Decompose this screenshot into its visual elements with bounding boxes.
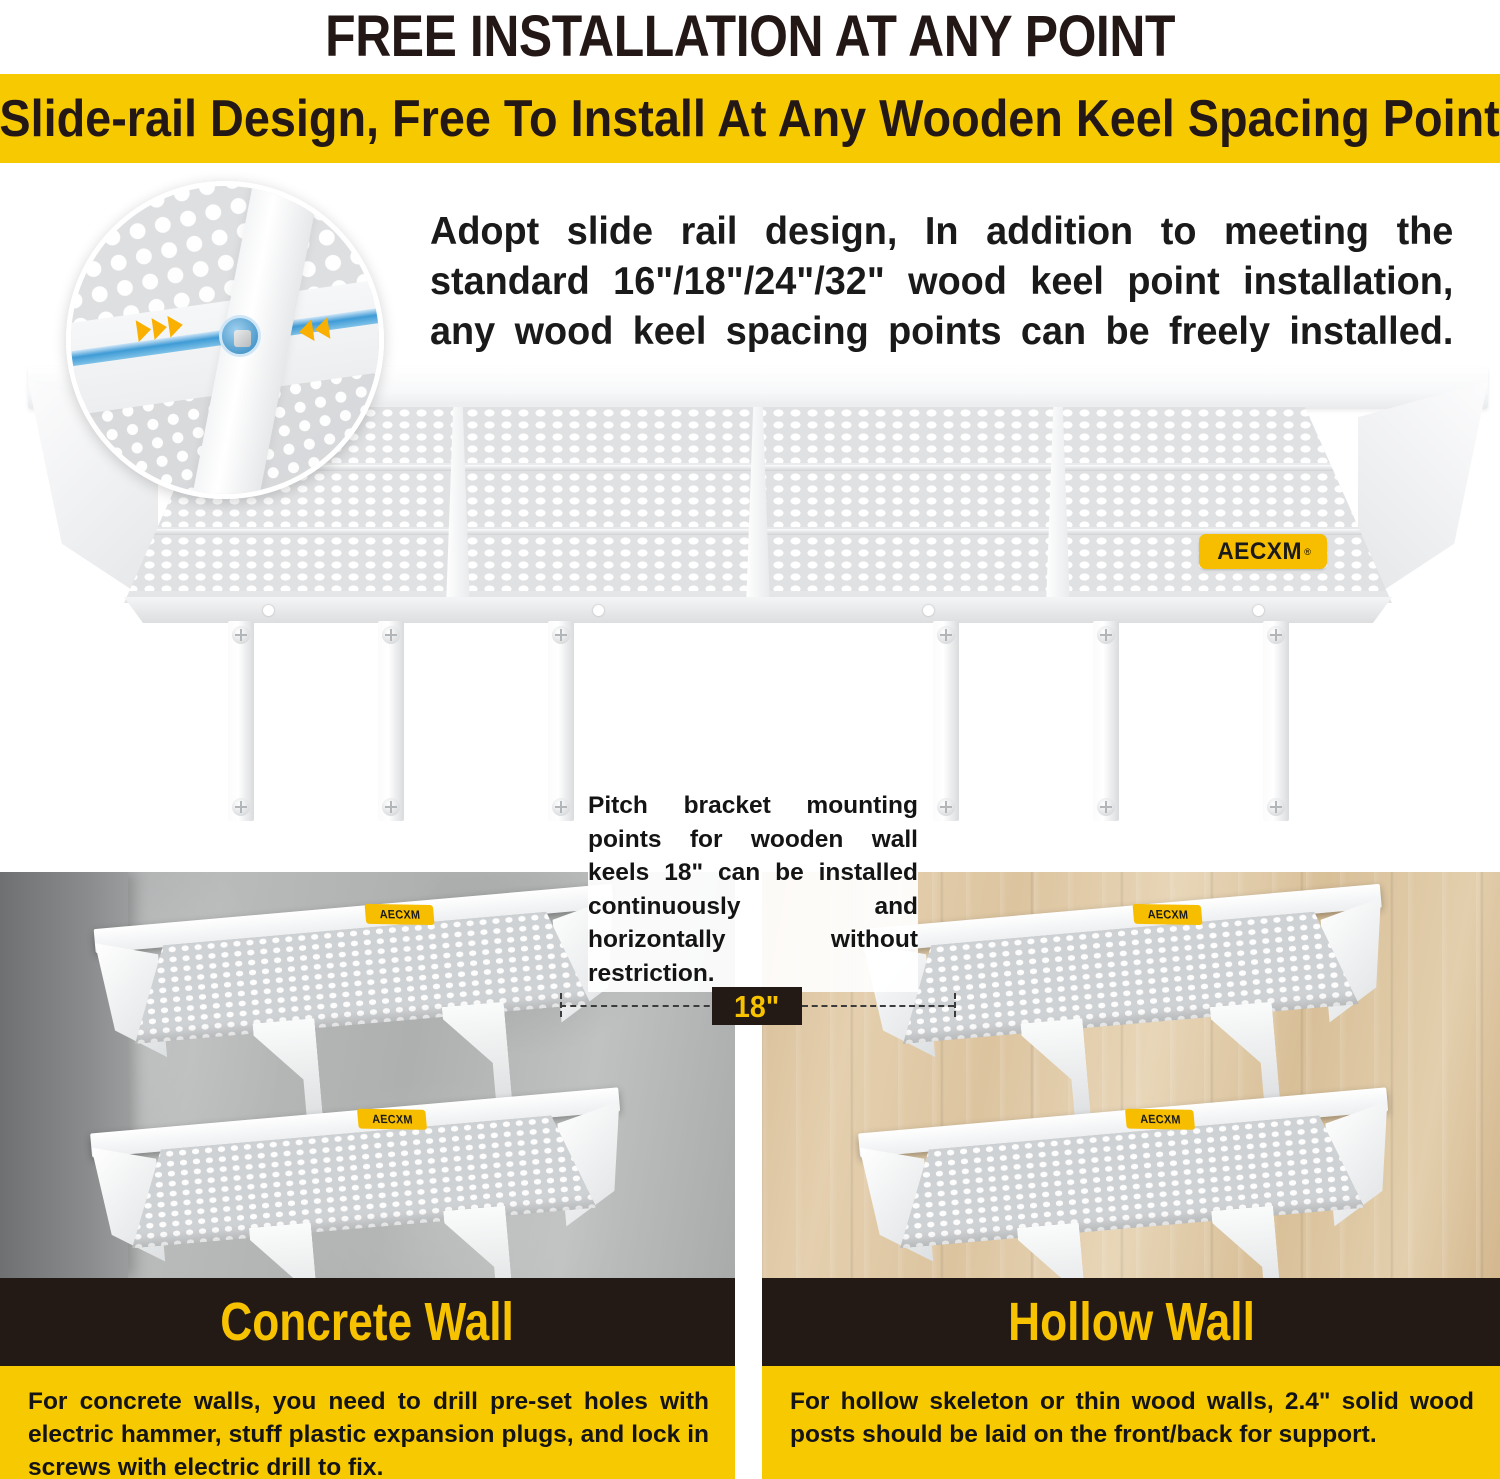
dimension-value: 18" [734,991,779,1022]
dimension-line-left [560,1005,720,1007]
panel-caption: Concrete Wall [221,1295,515,1349]
screw-icon [937,798,955,816]
screw-icon [232,798,250,816]
subtitle-text: Slide-rail Design, Free To Install At An… [0,93,1500,145]
mounting-bracket [548,621,574,821]
shelf-bracket [443,1206,518,1278]
subtitle-banner: Slide-rail Design, Free To Install At An… [0,74,1500,163]
slide-rail-magnifier-icon [66,181,384,499]
registered-mark: ® [1304,547,1311,557]
screw-icon [382,626,400,644]
panel-description-block: For concrete walls, you need to drill pr… [0,1366,735,1479]
screw-icon [1097,798,1115,816]
rail-bolt-icon [219,315,261,357]
panel-caption-band: Hollow Wall [762,1278,1500,1366]
screw-icon [1267,798,1285,816]
screw-icon [382,798,400,816]
brand-badge: AECXM [1132,904,1202,925]
brand-badge: AECXM [1125,1109,1195,1130]
slide-arrows-left-icon [298,317,331,343]
mounting-bracket [1263,621,1289,821]
panel-description: For concrete walls, you need to drill pr… [28,1386,709,1479]
brand-name: AECXM [1139,1112,1181,1127]
mounting-bracket [228,621,254,821]
mounting-bracket [933,621,959,821]
panel-caption: Hollow Wall [1008,1295,1255,1349]
shelf-bracket [1211,1206,1286,1278]
brand-badge: AECXM® [1199,534,1327,569]
infographic-page: FREE INSTALLATION AT ANY POINT Slide-rai… [0,0,1500,1479]
panel-description-block: For hollow skeleton or thin wood walls, … [762,1366,1500,1479]
mounting-bracket [1093,621,1119,821]
pitch-bracket-callout: Pitch bracket mounting points for wooden… [588,787,918,992]
screw-icon [1267,626,1285,644]
page-title-bar: FREE INSTALLATION AT ANY POINT [0,0,1500,74]
shelf-front-edge [124,597,1392,623]
page-title: FREE INSTALLATION AT ANY POINT [325,8,1175,66]
brand-badge: AECXM [364,904,434,925]
brand-name: AECXM [1147,907,1189,922]
panel-caption-band: Concrete Wall [0,1278,735,1366]
screw-icon [552,798,570,816]
screw-icon [937,626,955,644]
hero-section: Adopt slide rail design, In addition to … [0,163,1500,870]
mounting-bracket [378,621,404,821]
brand-name: AECXM [1217,538,1302,566]
screw-icon [1097,626,1115,644]
brand-name: AECXM [371,1112,413,1127]
panel-description: For hollow skeleton or thin wood walls, … [790,1386,1474,1452]
dimension-tick-right [954,993,956,1017]
screw-icon [552,626,570,644]
dimension-badge: 18" [712,987,802,1025]
screw-icon [232,626,250,644]
dimension-line-right [802,1005,954,1007]
hero-description: Adopt slide rail design, In addition to … [430,207,1453,357]
dimension-indicator: 18" [0,983,1500,1029]
brand-badge: AECXM [357,1109,427,1130]
brand-name: AECXM [379,907,421,922]
